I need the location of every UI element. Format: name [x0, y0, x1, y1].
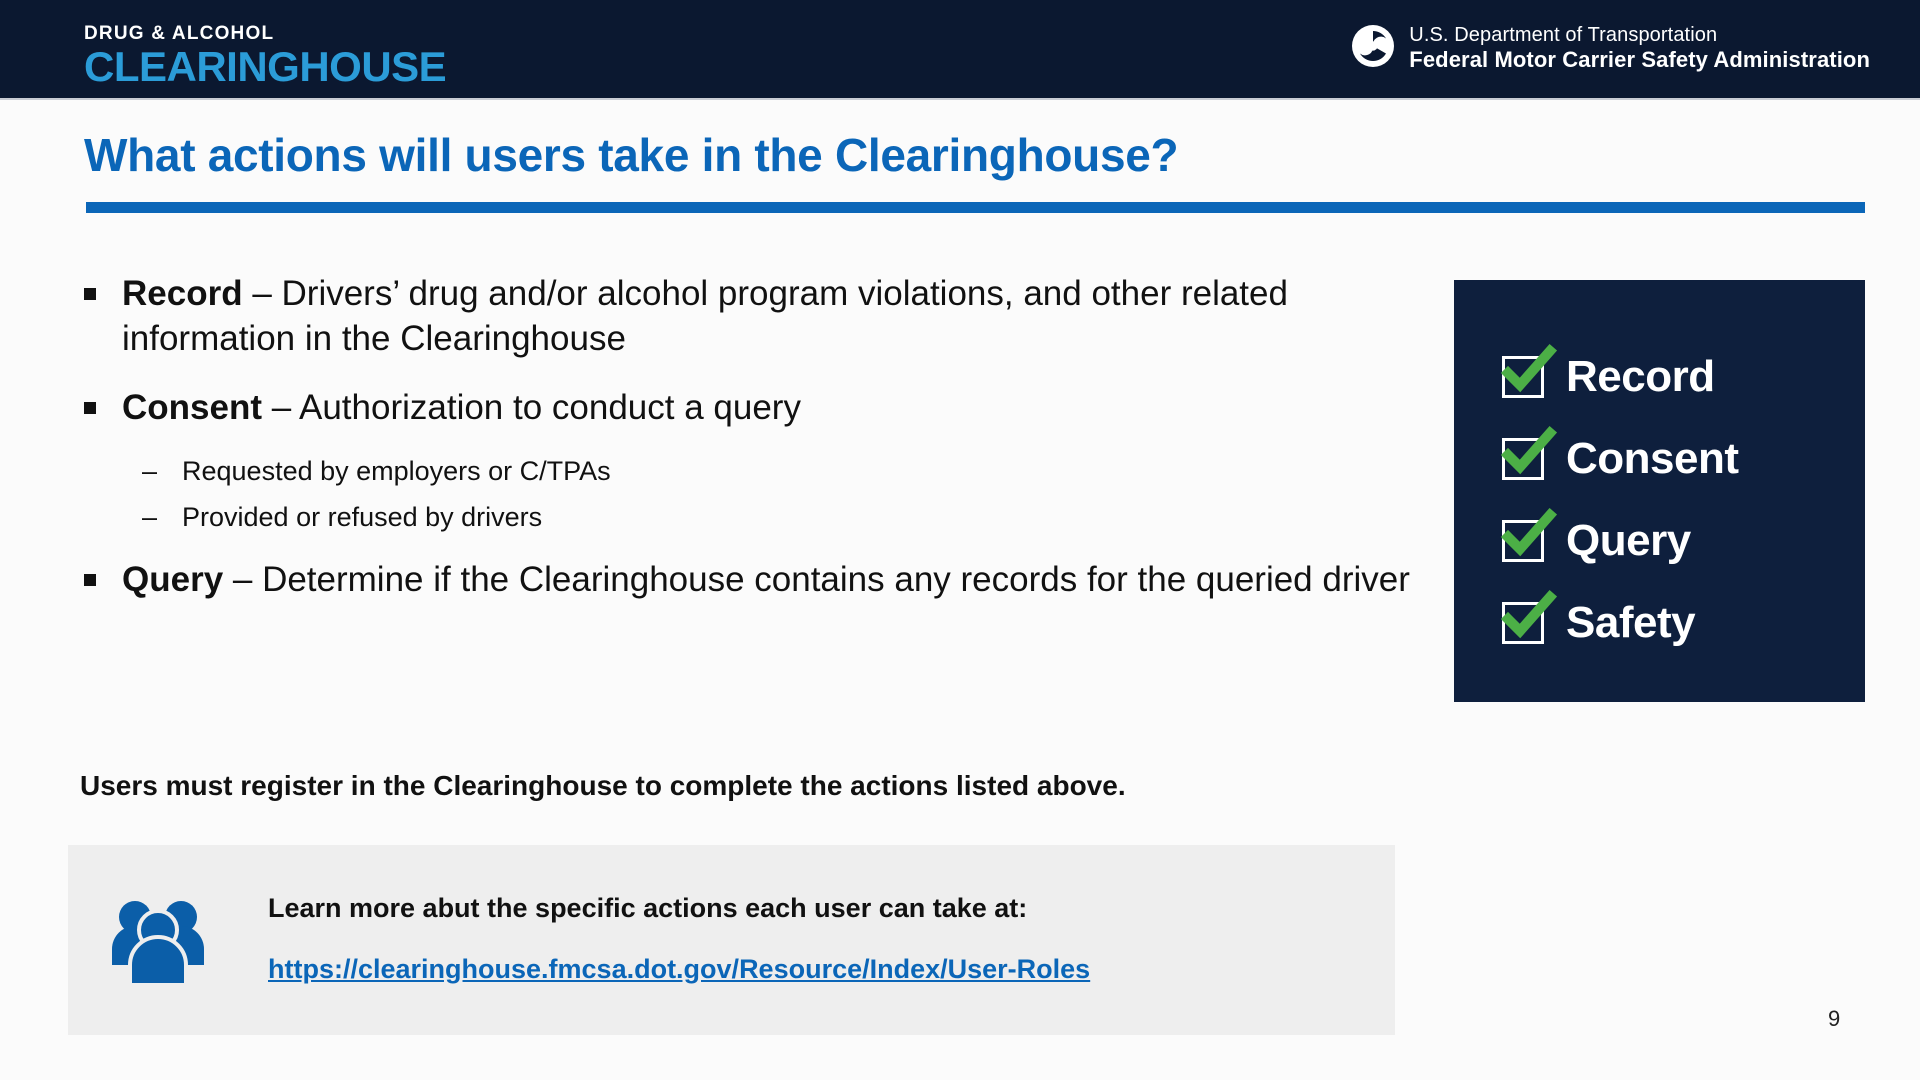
- bullet-record-text: – Drivers’ drug and/or alcohol program v…: [122, 274, 1288, 358]
- dot-triskelion-icon: [1351, 24, 1395, 73]
- sub-bullet-text: Provided or refused by drivers: [182, 502, 542, 532]
- brand-name: CLEARINGHOUSE: [84, 46, 446, 88]
- bullet-consent: Consent – Authorization to conduct a que…: [80, 386, 1410, 431]
- bullet-record: Record – Drivers’ drug and/or alcohol pr…: [80, 272, 1410, 362]
- dash-bullet-icon: –: [142, 500, 157, 536]
- square-bullet-icon: [84, 288, 96, 300]
- callout-text-block: Learn more abut the specific actions eac…: [268, 893, 1090, 985]
- checklist-label: Record: [1566, 355, 1715, 399]
- agency-name-block: U.S. Department of Transportation Federa…: [1409, 24, 1870, 72]
- bullet-query: Query – Determine if the Clearinghouse c…: [80, 558, 1410, 603]
- bullet-consent-lead: Consent: [122, 388, 262, 427]
- square-bullet-icon: [84, 402, 96, 414]
- checklist-label: Query: [1566, 519, 1691, 563]
- agency-administration: Federal Motor Carrier Safety Administrat…: [1409, 47, 1870, 72]
- checklist-graphic-panel: Record Consent Query: [1454, 280, 1865, 702]
- bullet-query-lead: Query: [122, 560, 223, 599]
- brand-tagline: DRUG & ALCOHOL: [84, 24, 446, 43]
- square-bullet-icon: [84, 574, 96, 586]
- page-title: What actions will users take in the Clea…: [84, 128, 1178, 182]
- clearinghouse-logo: DRUG & ALCOHOL CLEARINGHOUSE: [84, 24, 446, 88]
- bullet-query-text: – Determine if the Clearinghouse contain…: [223, 560, 1410, 599]
- learn-more-callout: Learn more abut the specific actions eac…: [68, 845, 1395, 1035]
- registration-statement: Users must register in the Clearinghouse…: [80, 770, 1126, 802]
- slide-header: DRUG & ALCOHOL CLEARINGHOUSE U.S. Depart…: [0, 0, 1920, 100]
- title-underline-rule: [86, 202, 1865, 213]
- callout-heading: Learn more abut the specific actions eac…: [268, 893, 1090, 924]
- users-group-icon: [108, 893, 208, 993]
- list-item: – Provided or refused by drivers: [80, 500, 1410, 536]
- checklist-label: Safety: [1566, 601, 1695, 645]
- checked-checkbox-icon: [1502, 356, 1544, 398]
- checked-checkbox-icon: [1502, 520, 1544, 562]
- dot-fmcsa-logo: U.S. Department of Transportation Federa…: [1351, 24, 1870, 73]
- bullet-consent-text: – Authorization to conduct a query: [262, 388, 801, 427]
- dash-bullet-icon: –: [142, 454, 157, 490]
- checklist-item-consent: Consent: [1502, 418, 1865, 500]
- checklist-item-safety: Safety: [1502, 582, 1865, 664]
- checked-checkbox-icon: [1502, 602, 1544, 644]
- bullet-list: Record – Drivers’ drug and/or alcohol pr…: [80, 272, 1410, 626]
- page-number: 9: [1828, 1006, 1840, 1032]
- bullet-record-lead: Record: [122, 274, 243, 313]
- checklist-item-query: Query: [1502, 500, 1865, 582]
- agency-department: U.S. Department of Transportation: [1409, 24, 1870, 47]
- checklist-item-record: Record: [1502, 336, 1865, 418]
- consent-sub-list: – Requested by employers or C/TPAs – Pro…: [80, 454, 1410, 535]
- checklist-label: Consent: [1566, 437, 1739, 481]
- list-item: – Requested by employers or C/TPAs: [80, 454, 1410, 490]
- user-roles-link[interactable]: https://clearinghouse.fmcsa.dot.gov/Reso…: [268, 954, 1090, 985]
- sub-bullet-text: Requested by employers or C/TPAs: [182, 456, 611, 486]
- slide-canvas: DRUG & ALCOHOL CLEARINGHOUSE U.S. Depart…: [0, 0, 1920, 1080]
- checked-checkbox-icon: [1502, 438, 1544, 480]
